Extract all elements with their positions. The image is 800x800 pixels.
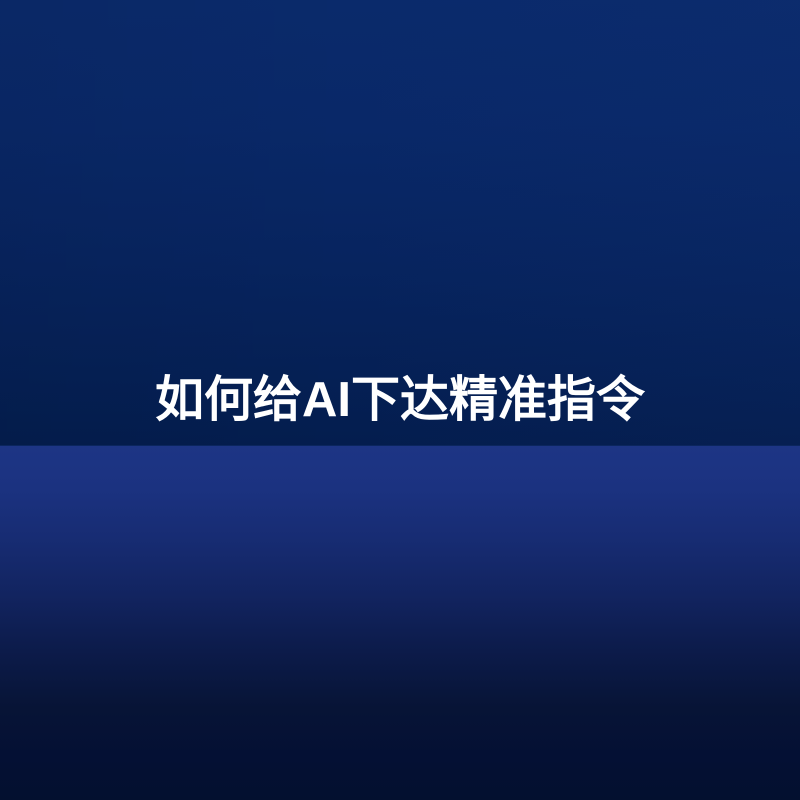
- slide-canvas: 如何给AI下达精准指令: [0, 0, 800, 800]
- background-band-lower: [0, 446, 800, 800]
- slide-title: 如何给AI下达精准指令: [155, 372, 645, 428]
- title-container: 如何给AI下达精准指令: [0, 372, 800, 428]
